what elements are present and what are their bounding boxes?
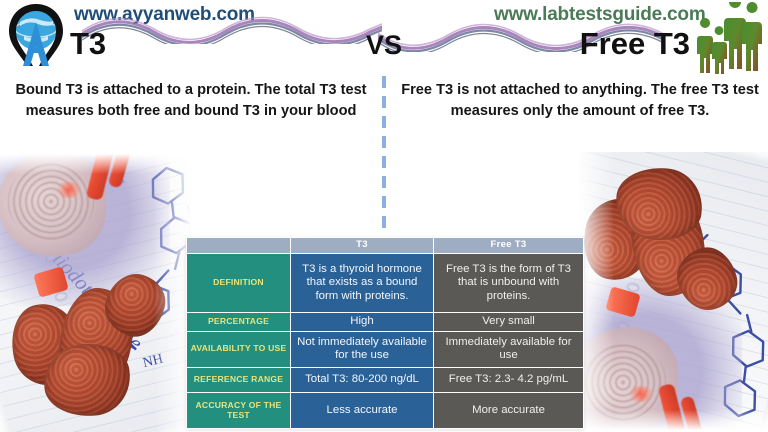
table-row: ACCURACY OF THE TEST Less accurate More …	[187, 393, 583, 428]
table-header-row: T3 Free T3	[187, 238, 583, 253]
photo-fade-top	[0, 152, 196, 174]
row-label-availability: AVAILABILITY TO USE	[187, 332, 290, 367]
cell-free-t3-availability: Immediately available for use	[434, 332, 583, 367]
cell-free-t3-accuracy: More accurate	[434, 393, 583, 428]
intro-text-right: Free T3 is not attached to anything. The…	[394, 80, 766, 122]
cell-t3-reference-range: Total T3: 80-200 ng/dL	[291, 368, 433, 392]
header-cell-t3: T3	[291, 238, 433, 253]
cell-t3-percentage: High	[291, 313, 433, 331]
red-glow	[56, 182, 82, 198]
table-row: PERCENTAGE High Very small	[187, 313, 583, 331]
row-label-accuracy: ACCURACY OF THE TEST	[187, 393, 290, 428]
page-title-right: Free T3	[580, 26, 690, 62]
row-label-percentage: PERCENTAGE	[187, 313, 290, 331]
red-glow	[628, 386, 654, 402]
header-cell-blank	[187, 238, 290, 253]
cell-t3-accuracy: Less accurate	[291, 393, 433, 428]
photo-right-thyroid-model	[572, 152, 768, 432]
table-row: AVAILABILITY TO USE Not immediately avai…	[187, 332, 583, 367]
site-url-left[interactable]: www.ayyanweb.com	[74, 4, 255, 26]
vertical-dashed-divider	[382, 76, 386, 236]
header-cell-free-t3: Free T3	[434, 238, 583, 253]
cell-free-t3-percentage: Very small	[434, 313, 583, 331]
table-row: REFERENCE RANGE Total T3: 80-200 ng/dL F…	[187, 368, 583, 392]
row-label-definition: DEFINITION	[187, 254, 290, 312]
site-url-right[interactable]: www.labtestsguide.com	[494, 4, 706, 26]
table-row: DEFINITION T3 is a thyroid hormone that …	[187, 254, 583, 312]
intro-text-left: Bound T3 is attached to a protein. The t…	[2, 80, 380, 122]
cell-t3-availability: Not immediately available for the use	[291, 332, 433, 367]
cell-free-t3-definition: Free T3 is the form of T3 that is unboun…	[434, 254, 583, 312]
cell-free-t3-reference-range: Free T3: 2.3- 4.2 pg/mL	[434, 368, 583, 392]
infographic-page: I O NH Triiodothyronine	[0, 0, 768, 432]
photo-left-thyroid-model: I O NH Triiodothyronine	[0, 152, 196, 432]
cell-t3-definition: T3 is a thyroid hormone that exists as a…	[291, 254, 433, 312]
comparison-table: T3 Free T3 DEFINITION T3 is a thyroid ho…	[186, 237, 584, 429]
photo-fade-top	[572, 410, 768, 432]
row-label-reference-range: REFERENCE RANGE	[187, 368, 290, 392]
